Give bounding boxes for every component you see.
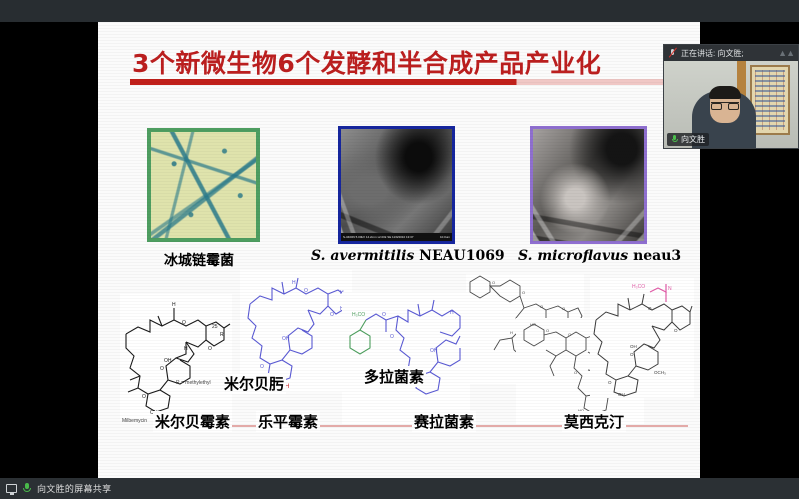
compound-sublabel-milbemycin: Milbemycin bbox=[122, 418, 147, 424]
compound-label-lepimectin: 乐平霉素 bbox=[256, 411, 320, 432]
active-speaker-label: 正在讲话: 向文胜; bbox=[681, 48, 744, 59]
micrograph-caption-1: 冰城链霉菌 bbox=[164, 250, 234, 270]
svg-text:HO: HO bbox=[530, 322, 536, 327]
compound-label-selamectin: 赛拉菌素 bbox=[412, 411, 476, 432]
structure-moxidectin-svg: O O O O OH OH OCH₃ H₃CO N bbox=[590, 278, 694, 398]
micrograph-image-2: S-3400N 5.00kV 14.2mm x2.00k SE 11/9/201… bbox=[338, 126, 455, 244]
chevron-collapse-icon[interactable]: ▲▲ bbox=[778, 49, 794, 58]
zoom-screen-share-window: 3个新微生物6个发酵和半合成产品产业化 S-3400N 5.00kV 14.2m… bbox=[0, 0, 799, 499]
structure-lepimectin-svg: O O OH O H H₃CO OH bbox=[342, 292, 470, 424]
n-atom-label: N bbox=[668, 286, 672, 292]
svg-text:O: O bbox=[182, 320, 186, 326]
svg-text:O: O bbox=[522, 290, 525, 295]
micrograph-image-1 bbox=[147, 128, 260, 242]
micrograph-row: S-3400N 5.00kV 14.2mm x2.00k SE 11/9/201… bbox=[98, 118, 700, 268]
svg-text:O: O bbox=[540, 304, 543, 309]
svg-text:O: O bbox=[208, 346, 212, 352]
micrograph-caption-3: S. microflavus neau3 bbox=[518, 248, 681, 264]
sem-data-strip: S-3400N 5.00kV 14.2mm x2.00k SE 11/9/201… bbox=[341, 233, 452, 241]
svg-text:OH: OH bbox=[618, 392, 625, 397]
caption-2-strain: NEAU1069 bbox=[419, 248, 505, 264]
svg-text:OH: OH bbox=[282, 336, 290, 342]
svg-text:O: O bbox=[546, 328, 549, 333]
svg-text:O: O bbox=[492, 280, 495, 285]
svg-text:H: H bbox=[172, 302, 176, 308]
h3co-n-group-label: H₃CO bbox=[632, 284, 645, 290]
svg-text:O: O bbox=[674, 328, 678, 333]
presentation-slide: 3个新微生物6个发酵和半合成产品产业化 S-3400N 5.00kV 14.2m… bbox=[98, 22, 700, 478]
svg-text:O: O bbox=[630, 352, 634, 357]
sem-strip-left-text: S-3400N 5.00kV 14.2mm x2.00k SE 11/9/201… bbox=[343, 235, 414, 239]
svg-text:R: R bbox=[220, 332, 224, 338]
background-wall-poster bbox=[750, 65, 790, 135]
svg-text:O: O bbox=[608, 380, 612, 385]
structure-moxidectin: O O O O OH OH OCH₃ H₃CO N bbox=[590, 278, 694, 398]
caption-2-species: S. avermitilis bbox=[311, 248, 414, 264]
participant-hair bbox=[709, 86, 741, 99]
zoom-top-bar bbox=[0, 0, 799, 22]
structure-milbemycin: H O O R 25 O O OH OH H bbox=[120, 294, 232, 420]
caption-3-species: S. microflavus bbox=[518, 248, 628, 264]
chemical-structures-band: H O O R 25 O O OH OH H bbox=[98, 270, 700, 428]
participant-name-badge: 向文胜 bbox=[667, 133, 709, 146]
svg-text:OCH₃: OCH₃ bbox=[654, 370, 666, 375]
microphone-active-icon bbox=[671, 135, 678, 144]
svg-text:O: O bbox=[330, 312, 334, 318]
video-overlay-header[interactable]: 正在讲话: 向文胜; ▲▲ bbox=[664, 45, 798, 61]
compound-sublabel-r-group: R = methylethyl bbox=[176, 380, 211, 386]
svg-text:O: O bbox=[304, 288, 308, 294]
compound-label-milbemycin-oxime: 米尔贝肟 bbox=[222, 373, 286, 394]
screen-share-label: 向文胜的屏幕共享 bbox=[37, 482, 111, 495]
svg-text:O: O bbox=[160, 366, 164, 372]
compound-label-moxidectin: 莫西克汀 bbox=[562, 411, 626, 432]
svg-text:OH: OH bbox=[630, 344, 637, 349]
participant-video-feed[interactable]: 向文胜 bbox=[664, 61, 798, 149]
svg-text:H: H bbox=[510, 330, 513, 335]
compound-label-doramectin: 多拉菌素 bbox=[362, 366, 426, 387]
svg-text:H: H bbox=[292, 280, 296, 286]
svg-text:H: H bbox=[184, 346, 188, 352]
microphone-muted-icon bbox=[668, 48, 677, 58]
svg-text:OH: OH bbox=[430, 348, 438, 354]
micrograph-image-3 bbox=[530, 126, 647, 244]
sem-strip-right-text: 10.0um bbox=[440, 235, 450, 239]
monitor-icon bbox=[6, 484, 17, 493]
participant-video-overlay[interactable]: 正在讲话: 向文胜; ▲▲ 向文胜 bbox=[663, 44, 799, 149]
participant-name: 向文胜 bbox=[681, 134, 705, 145]
svg-text:O: O bbox=[260, 364, 264, 370]
micrograph-caption-2: S. avermitilis NEAU1069 bbox=[311, 248, 505, 264]
structure-lepimectin: O O OH O H H₃CO OH bbox=[342, 292, 470, 424]
svg-text:H₃CO: H₃CO bbox=[352, 312, 365, 318]
svg-text:25: 25 bbox=[212, 324, 218, 330]
page-title: 3个新微生物6个发酵和半合成产品产业化 bbox=[132, 44, 692, 80]
caption-3-strain: neau3 bbox=[633, 248, 681, 264]
participant-glasses bbox=[711, 102, 739, 109]
microphone-icon[interactable] bbox=[22, 483, 32, 495]
compound-label-milbemycin: 米尔贝霉素 bbox=[153, 411, 232, 432]
svg-text:O: O bbox=[568, 332, 571, 337]
svg-text:O: O bbox=[390, 334, 394, 340]
svg-text:O: O bbox=[142, 394, 146, 400]
svg-text:O: O bbox=[574, 370, 577, 375]
structure-milbemycin-svg: H O O R 25 O O OH OH H bbox=[120, 294, 232, 420]
svg-text:O: O bbox=[562, 306, 565, 311]
svg-text:O: O bbox=[382, 312, 386, 318]
svg-text:H: H bbox=[450, 310, 454, 316]
svg-text:OH: OH bbox=[164, 358, 172, 364]
screen-share-status-bar: 向文胜的屏幕共享 bbox=[0, 478, 799, 499]
svg-text:O: O bbox=[648, 306, 652, 311]
